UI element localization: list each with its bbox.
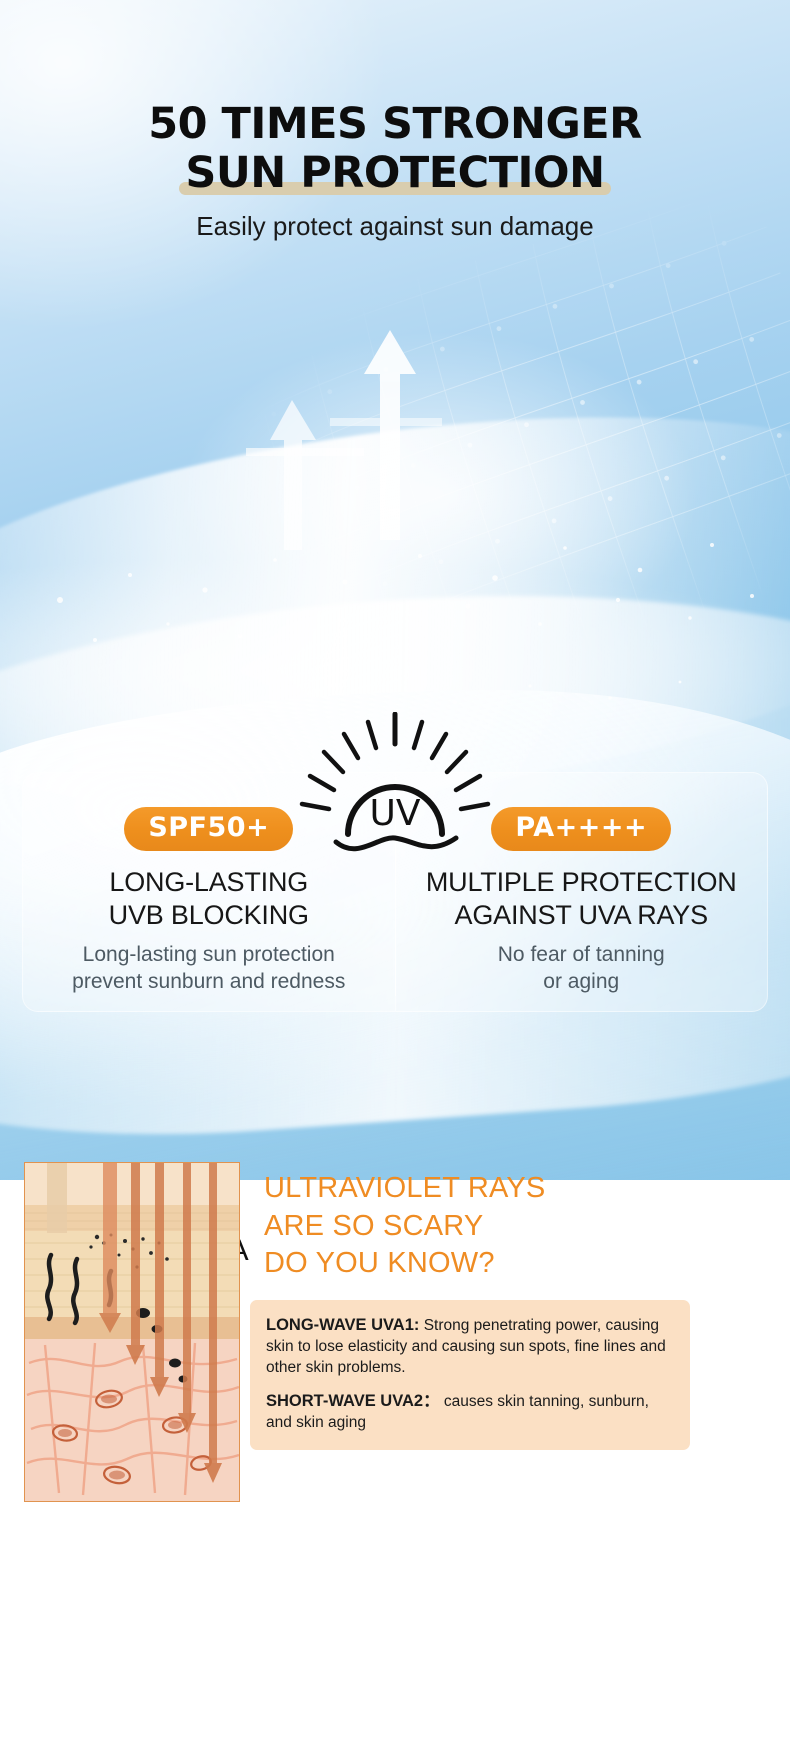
info-label-long-wave: LONG-WAVE UVA1: [266, 1316, 419, 1334]
badge-pa: PA++++ [491, 807, 671, 851]
uv-warning-line-2: ARE SO SCARY [264, 1208, 545, 1246]
upward-arrows-decoration [240, 300, 470, 550]
uv-warning-line-3: DO YOU KNOW? [264, 1245, 545, 1283]
card-title-line-1: LONG-LASTING [23, 866, 395, 900]
hero-section: 50 TIMES STRONGER SUN PROTECTION Easily … [0, 0, 790, 1180]
card-title-line-2: UVB BLOCKING [23, 899, 395, 933]
uv-warning-heading: ULTRAVIOLET RAYS ARE SO SCARY DO YOU KNO… [264, 1170, 545, 1283]
badge-spf50: SPF50+ [124, 807, 293, 851]
info-label-short-wave: SHORT-WAVE UVA2： [266, 1392, 440, 1410]
card-title-line-1: MULTIPLE PROTECTION [396, 866, 768, 900]
card-title-spf50: LONG-LASTING UVB BLOCKING [23, 866, 395, 934]
info-paragraph-long-wave: LONG-WAVE UVA1: Strong penetrating power… [266, 1315, 674, 1378]
headline-line-2-wrap: SUN PROTECTION [185, 149, 604, 198]
page-title: 50 TIMES STRONGER SUN PROTECTION [0, 100, 790, 197]
uv-info-box: LONG-WAVE UVA1: Strong penetrating power… [250, 1300, 690, 1450]
card-body-pa: No fear of tanning or aging [396, 942, 768, 996]
uv-icon-label: UV [370, 793, 421, 834]
card-body-line-1: Long-lasting sun protection [23, 942, 395, 969]
card-body-line-2: prevent sunburn and redness [23, 969, 395, 996]
card-body-line-1: No fear of tanning [396, 942, 768, 969]
uv-warning-line-1: ULTRAVIOLET RAYS [264, 1170, 545, 1208]
headline-line-2: SUN PROTECTION [185, 148, 604, 198]
card-body-spf50: Long-lasting sun protection prevent sunb… [23, 942, 395, 996]
hero-glow-center [180, 330, 700, 660]
card-body-line-2: or aging [396, 969, 768, 996]
skin-penetration-diagram [24, 1162, 240, 1502]
card-title-pa: MULTIPLE PROTECTION AGAINST UVA RAYS [396, 866, 768, 934]
info-paragraph-short-wave: SHORT-WAVE UVA2： causes skin tanning, su… [266, 1391, 674, 1434]
headline-line-1: 50 TIMES STRONGER [0, 100, 790, 149]
hero-headline-block: 50 TIMES STRONGER SUN PROTECTION Easily … [0, 100, 790, 242]
hero-subtitle: Easily protect against sun damage [0, 211, 790, 242]
mesh-grid-decoration [216, 181, 790, 720]
card-title-line-2: AGAINST UVA RAYS [396, 899, 768, 933]
uv-sun-icon: UV [296, 712, 494, 862]
